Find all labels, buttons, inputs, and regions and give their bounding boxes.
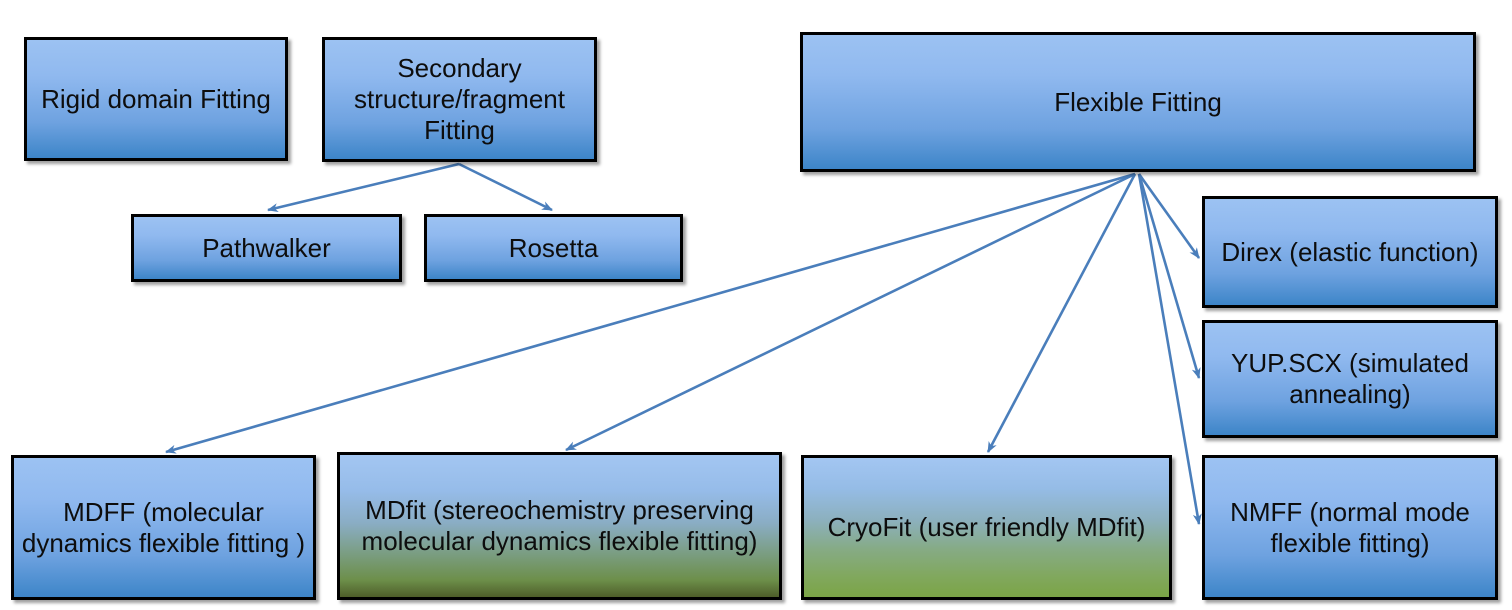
node-nmff[interactable]: NMFF (normal mode flexible fitting)	[1202, 455, 1498, 600]
node-label: Rigid domain Fitting	[33, 84, 279, 115]
edge-secondary-to-pathwalker	[268, 164, 459, 210]
node-label: Flexible Fitting	[809, 87, 1467, 118]
node-label: MDfit (stereochemistry preserving molecu…	[346, 495, 773, 556]
node-mdff[interactable]: MDFF (molecular dynamics flexible fittin…	[11, 455, 316, 600]
edge-secondary-to-rosetta	[459, 164, 552, 210]
node-rigid-domain-fitting[interactable]: Rigid domain Fitting	[24, 37, 288, 161]
node-secondary-structure-fragment-fitting[interactable]: Secondary structure/fragment Fitting	[322, 37, 597, 162]
diagram-canvas: Rigid domain Fitting Secondary structure…	[0, 0, 1512, 610]
node-pathwalker[interactable]: Pathwalker	[131, 214, 402, 282]
node-label: Direx (elastic function)	[1211, 237, 1489, 268]
node-label: Rosetta	[433, 233, 674, 264]
node-flexible-fitting[interactable]: Flexible Fitting	[800, 32, 1476, 172]
node-label: NMFF (normal mode flexible fitting)	[1211, 497, 1489, 558]
node-mdfit[interactable]: MDfit (stereochemistry preserving molecu…	[337, 452, 782, 600]
node-cryofit[interactable]: CryoFit (user friendly MDfit)	[801, 455, 1172, 600]
node-direx[interactable]: Direx (elastic function)	[1202, 196, 1498, 308]
node-yup-scx[interactable]: YUP.SCX (simulated annealing)	[1202, 320, 1498, 438]
node-label: Secondary structure/fragment Fitting	[331, 53, 588, 145]
edge-flexible-to-direx	[1139, 174, 1199, 258]
node-label: Pathwalker	[140, 233, 393, 264]
node-label: MDFF (molecular dynamics flexible fittin…	[20, 497, 307, 558]
node-label: YUP.SCX (simulated annealing)	[1211, 348, 1489, 409]
edge-flexible-to-cryofit	[988, 174, 1135, 452]
edge-flexible-to-yupscx	[1139, 174, 1199, 378]
node-label: CryoFit (user friendly MDfit)	[810, 512, 1163, 543]
node-rosetta[interactable]: Rosetta	[424, 214, 683, 282]
